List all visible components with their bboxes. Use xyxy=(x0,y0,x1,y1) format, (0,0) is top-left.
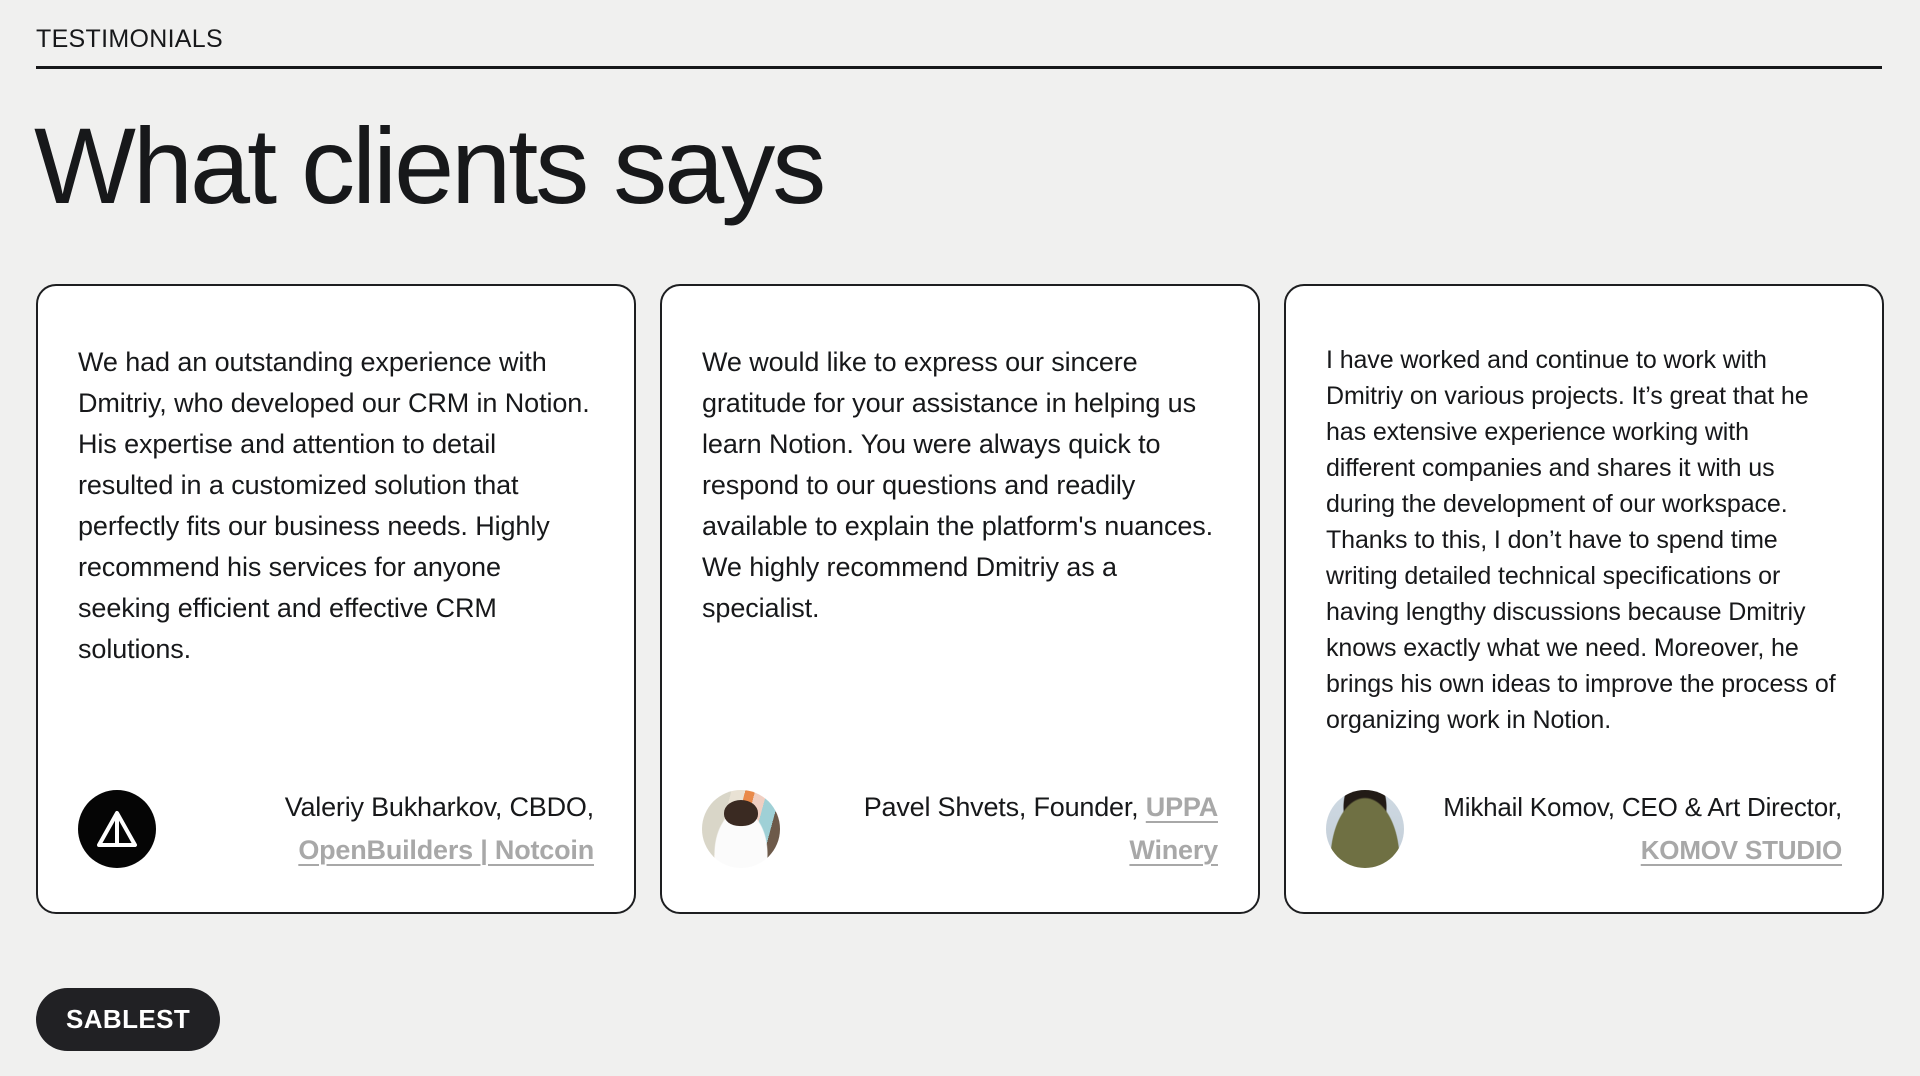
avatar xyxy=(702,790,780,868)
sablest-badge[interactable]: SABLEST xyxy=(36,988,220,1051)
section-eyebrow: TESTIMONIALS xyxy=(36,24,1882,66)
testimonial-quote: We had an outstanding experience with Dm… xyxy=(78,342,594,670)
avatar xyxy=(1326,790,1404,868)
section-divider xyxy=(36,66,1882,69)
author-name: Valeriy Bukharkov, CBDO, xyxy=(285,792,594,822)
testimonial-author: Mikhail Komov, CEO & Art Director, KOMOV… xyxy=(1326,746,1842,872)
testimonials-section: TESTIMONIALS What clients says We had an… xyxy=(0,0,1920,1076)
author-name: Pavel Shvets, Founder, xyxy=(864,792,1139,822)
testimonial-author: Valeriy Bukharkov, CBDO, OpenBuilders | … xyxy=(78,746,594,872)
company-link[interactable]: UPPA Winery xyxy=(1129,792,1218,865)
company-link[interactable]: KOMOV STUDIO xyxy=(1641,835,1842,865)
testimonial-card-list: We had an outstanding experience with Dm… xyxy=(36,284,1884,914)
company-link[interactable]: OpenBuilders | Notcoin xyxy=(298,835,594,865)
author-name: Mikhail Komov, CEO & Art Director, xyxy=(1443,792,1842,822)
author-text: Pavel Shvets, Founder, UPPA Winery xyxy=(802,786,1218,872)
author-text: Valeriy Bukharkov, CBDO, OpenBuilders | … xyxy=(178,786,594,872)
testimonial-quote: I have worked and continue to work with … xyxy=(1326,342,1842,738)
author-text: Mikhail Komov, CEO & Art Director, KOMOV… xyxy=(1426,786,1842,872)
testimonial-quote: We would like to express our sincere gra… xyxy=(702,342,1218,629)
page-title: What clients says xyxy=(34,112,823,220)
avatar xyxy=(78,790,156,868)
section-header: TESTIMONIALS xyxy=(36,24,1882,69)
testimonial-card: We would like to express our sincere gra… xyxy=(660,284,1260,914)
testimonial-card: We had an outstanding experience with Dm… xyxy=(36,284,636,914)
testimonial-author: Pavel Shvets, Founder, UPPA Winery xyxy=(702,746,1218,872)
testimonial-card: I have worked and continue to work with … xyxy=(1284,284,1884,914)
